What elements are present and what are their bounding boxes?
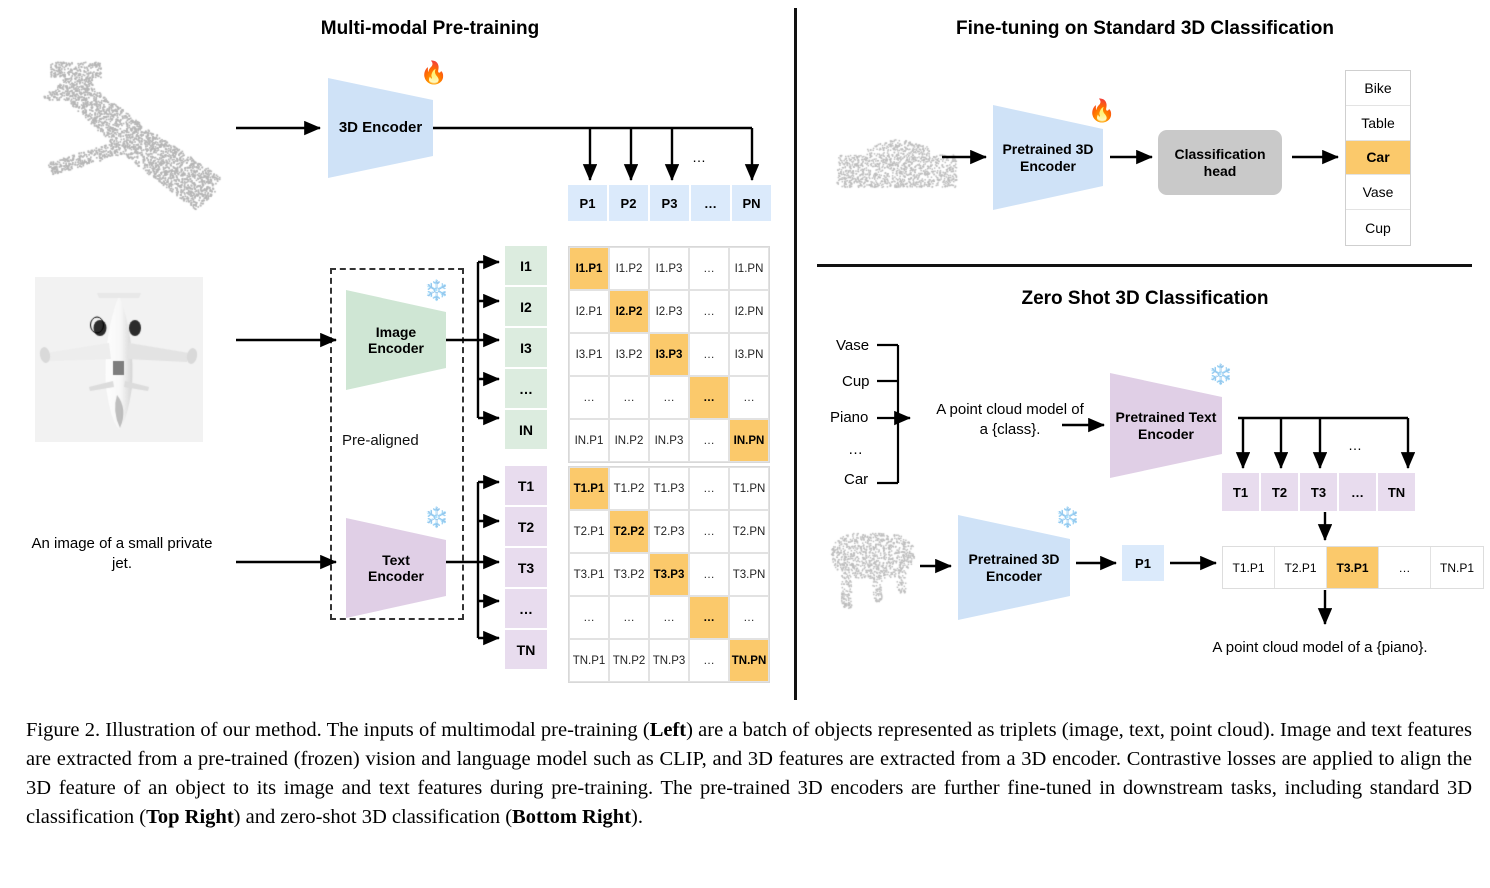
image-matrix-cell-2-2: I3.P3 [649,333,689,376]
panel-title-left: Multi-modal Pre-training [230,18,630,40]
encoder-image: Image Encoder [346,290,446,390]
text-token-4: TN [505,630,547,671]
image-matrix-cell-3-2: … [649,376,689,419]
text-matrix-cell-3-3: … [689,596,729,639]
text-matrix-cell-2-3: … [689,553,729,596]
point-token-4: PN [732,185,771,221]
caption-bold-left: Left [650,719,686,741]
text-matrix-cell-2-4: T3.PN [729,553,769,596]
class-prediction-list[interactable]: BikeTableCarVaseCup [1345,70,1411,246]
image-matrix-cell-4-4: IN.PN [729,419,769,462]
encoder-pretrained-text-label: Pretrained Text Encoder [1116,409,1217,441]
encoder-image-label: Image Encoder [368,324,424,356]
zeroshot-arrow-ellipsis: … [1340,436,1370,454]
image-matrix-cell-3-3: … [689,376,729,419]
point-token-0: P1 [568,185,607,221]
image-matrix-cell-2-1: I3.P2 [609,333,649,376]
encoder-pretrained-3d-finetune: Pretrained 3D Encoder [993,105,1103,210]
figure-caption: Figure 2. Illustration of our method. Th… [26,716,1472,832]
image-input-jet [35,277,203,442]
image-token-4: IN [505,410,547,451]
prompt-l2: a {class}. [980,421,1041,438]
point-token-3: … [691,185,730,221]
point-token-1: P2 [609,185,648,221]
text-matrix-cell-1-2: T2.P3 [649,510,689,553]
encoder-3d-pretrain: 3D Encoder [328,78,433,178]
class-item-4[interactable]: Cup [1346,210,1410,245]
point-cloud-piano [826,522,918,612]
text-matrix-cell-0-4: T1.PN [729,467,769,510]
image-matrix-cell-2-3: … [689,333,729,376]
classification-head-label: Classification head [1174,146,1265,180]
pre-aligned-label: Pre-aligned [342,432,419,449]
image-token-1: I2 [505,287,547,328]
text-token-2: T3 [505,548,547,589]
image-matrix-cell-0-1: I1.P2 [609,247,649,290]
image-token-3: … [505,369,547,410]
text-matrix-cell-3-4: … [729,596,769,639]
head-l1: Classification [1174,146,1265,162]
image-matrix-cell-2-0: I3.P1 [569,333,609,376]
text-matrix-cell-2-2: T3.P3 [649,553,689,596]
text-matrix-cell-1-3: … [689,510,729,553]
encoder-text-l1: Text [382,552,410,568]
text-matrix-cell-0-2: T1.P3 [649,467,689,510]
text-matrix-cell-0-3: … [689,467,729,510]
encoder-pretrained-text: Pretrained Text Encoder [1110,373,1222,478]
encoder-pretrained-3d-zeroshot-label: Pretrained 3D Encoder [968,551,1059,583]
text-point-similarity-matrix: T1.P1T1.P2T1.P3…T1.PNT2.P1T2.P2T2.P3…T2.… [568,466,770,683]
text-matrix-cell-0-1: T1.P2 [609,467,649,510]
text-matrix-cell-0-0: T1.P1 [569,467,609,510]
zeroshot-score-row: T1.P1T2.P1T3.P1…TN.P1 [1222,546,1484,589]
caption-part-1: Figure 2. Illustration of our method. Th… [26,719,650,741]
zeroshot-score-cell-0: T1.P1 [1223,547,1275,588]
text-token-strip: T1T2T3…TN [505,466,547,671]
image-matrix-cell-2-4: I3.PN [729,333,769,376]
zs-pc-enc-l2: Encoder [986,568,1042,584]
image-matrix-cell-0-4: I1.PN [729,247,769,290]
image-matrix-cell-4-0: IN.P1 [569,419,609,462]
caption-part-4: ). [631,806,643,828]
text-matrix-cell-3-1: … [609,596,649,639]
text-token-1: T2 [505,507,547,548]
point-cloud-car [830,125,960,195]
head-l2: head [1204,163,1237,179]
text-matrix-cell-4-2: TN.P3 [649,639,689,682]
text-matrix-cell-4-1: TN.P2 [609,639,649,682]
zeroshot-score-cell-1: T2.P1 [1275,547,1327,588]
zeroshot-score-cell-3: … [1379,547,1431,588]
image-matrix-cell-1-2: I2.P3 [649,290,689,333]
encoder-text-label: Text Encoder [368,552,424,584]
candidate-1: Cup [842,373,870,390]
image-matrix-cell-4-1: IN.P2 [609,419,649,462]
text-matrix-cell-1-1: T2.P2 [609,510,649,553]
zeroshot-point-token: P1 [1122,545,1164,581]
zeroshot-text-token-4: TN [1378,473,1415,511]
figure-canvas: Multi-modal Pre-training Fine-tuning on … [0,0,1490,710]
text-matrix-cell-4-4: TN.PN [729,639,769,682]
text-matrix-cell-1-4: T2.PN [729,510,769,553]
candidate-class-list: Vase Cup Piano … Car [828,335,898,485]
text-matrix-cell-3-0: … [569,596,609,639]
encoder-pretrained-3d-zeroshot: Pretrained 3D Encoder [958,515,1070,620]
ft-enc-l1: Pretrained 3D [1002,141,1093,157]
image-token-2: I3 [505,328,547,369]
zeroshot-score-cell-2: T3.P1 [1327,547,1379,588]
encoder-text-l2: Encoder [368,568,424,584]
image-matrix-cell-3-4: … [729,376,769,419]
class-item-1[interactable]: Table [1346,106,1410,141]
panel-title-bottom-right: Zero Shot 3D Classification [935,288,1355,310]
image-token-strip: I1I2I3…IN [505,246,547,451]
text-matrix-cell-3-2: … [649,596,689,639]
vertical-divider [794,8,797,700]
image-matrix-cell-0-3: … [689,247,729,290]
text-matrix-cell-2-0: T3.P1 [569,553,609,596]
text-matrix-cell-2-1: T3.P2 [609,553,649,596]
image-matrix-cell-3-0: … [569,376,609,419]
panel-title-top-right: Fine-tuning on Standard 3D Classificatio… [880,18,1410,40]
zs-pc-enc-l1: Pretrained 3D [968,551,1059,567]
text-matrix-cell-4-3: … [689,639,729,682]
text-token-0: T1 [505,466,547,507]
zs-text-enc-l1: Pretrained Text [1116,409,1217,425]
zs-text-enc-l2: Encoder [1138,426,1194,442]
text-matrix-cell-4-0: TN.P1 [569,639,609,682]
image-matrix-cell-1-0: I2.P1 [569,290,609,333]
encoder-text: Text Encoder [346,518,446,618]
candidate-4: Car [844,471,868,488]
candidate-2: Piano [830,409,868,426]
caption-bold-bottomright: Bottom Right [512,806,631,828]
point-arrow-ellipsis: … [684,148,714,166]
image-matrix-cell-1-3: … [689,290,729,333]
image-matrix-cell-3-1: … [609,376,649,419]
encoder-3d-pretrain-label: 3D Encoder [339,119,422,136]
text-matrix-cell-1-0: T2.P1 [569,510,609,553]
classification-head-box: Classification head [1158,130,1282,195]
image-matrix-cell-4-3: … [689,419,729,462]
horizontal-divider [817,264,1472,267]
zeroshot-result-text: A point cloud model of a {piano}. [1170,638,1470,658]
zeroshot-text-token-1: T2 [1261,473,1298,511]
image-matrix-cell-4-2: IN.P3 [649,419,689,462]
zeroshot-text-token-0: T1 [1222,473,1259,511]
ft-enc-l2: Encoder [1020,158,1076,174]
image-matrix-cell-1-1: I2.P2 [609,290,649,333]
class-item-3[interactable]: Vase [1346,175,1410,210]
candidate-3: … [848,441,863,458]
point-cloud-airplane [28,50,248,240]
zeroshot-text-token-3: … [1339,473,1376,511]
image-matrix-cell-0-2: I1.P3 [649,247,689,290]
image-matrix-cell-1-4: I2.PN [729,290,769,333]
prompt-template: A point cloud model of a {class}. [915,400,1105,439]
encoder-image-l1: Image [376,324,416,340]
candidate-0: Vase [836,337,869,354]
encoder-image-l2: Encoder [368,340,424,356]
zeroshot-score-cell-4: TN.P1 [1431,547,1483,588]
prompt-l1: A point cloud model of [936,401,1084,418]
image-point-similarity-matrix: I1.P1I1.P2I1.P3…I1.PNI2.P1I2.P2I2.P3…I2.… [568,246,770,463]
image-matrix-cell-0-0: I1.P1 [569,247,609,290]
text-input-caption: An image of a small private jet. [22,534,222,573]
image-token-0: I1 [505,246,547,287]
caption-part-3: ) and zero-shot 3D classification ( [234,806,512,828]
zeroshot-text-token-row: T1T2T3…TN [1222,473,1417,511]
zeroshot-text-token-2: T3 [1300,473,1337,511]
text-token-3: … [505,589,547,630]
point-token-row: P1P2P3…PN [568,185,773,221]
point-token-2: P3 [650,185,689,221]
caption-bold-topright: Top Right [146,806,234,828]
encoder-pretrained-3d-finetune-label: Pretrained 3D Encoder [1002,141,1093,173]
class-item-0[interactable]: Bike [1346,71,1410,106]
class-item-2[interactable]: Car [1346,141,1410,176]
